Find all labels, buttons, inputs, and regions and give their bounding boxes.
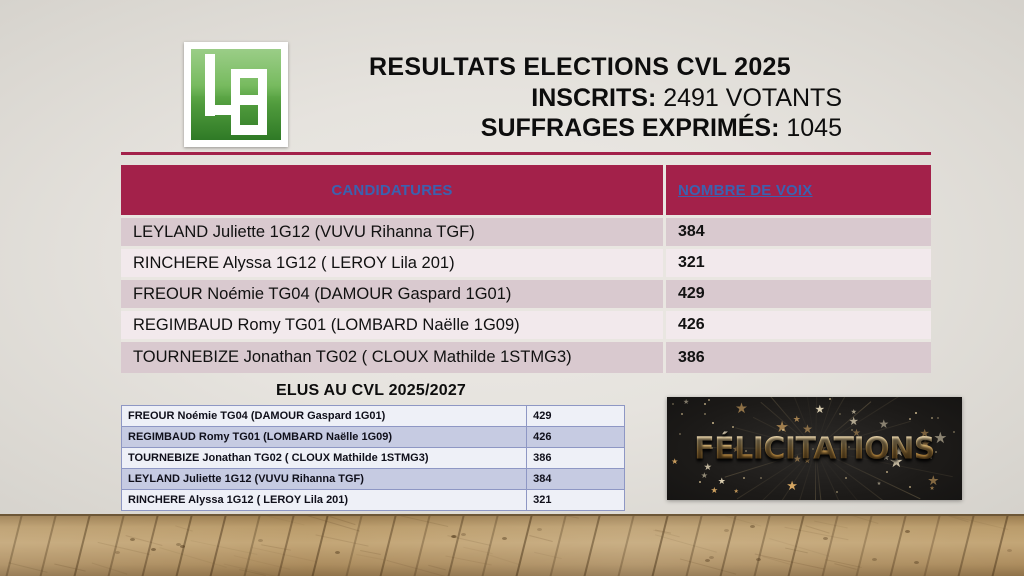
floor-knot xyxy=(756,558,761,561)
floor-grain-line xyxy=(360,550,381,555)
column-header-nombre-de-voix: NOMBRE DE VOIX xyxy=(666,165,931,218)
floor-plank-seam xyxy=(538,514,574,576)
spark-dot xyxy=(681,413,683,415)
elus-table-row: RINCHERE Alyssa 1G12 ( LEROY Lila 201)32… xyxy=(122,490,625,511)
spark-dot xyxy=(836,491,838,493)
floor-grain-line xyxy=(356,554,388,561)
floor-plank-seam xyxy=(640,514,676,576)
floor-knot xyxy=(115,551,120,554)
floor-knot xyxy=(502,537,507,540)
star-icon: ★ xyxy=(734,489,739,495)
elus-cell-voix: 321 xyxy=(527,490,625,511)
floor-plank-seam xyxy=(606,514,642,576)
slide-title-block: RESULTATS ELECTIONS CVL 2025 INSCRITS: 2… xyxy=(300,52,860,144)
table-row: TOURNEBIZE Jonathan TG02 ( CLOUX Mathild… xyxy=(121,342,931,373)
floor-knot xyxy=(914,561,919,564)
spark-dot xyxy=(760,477,762,479)
floor-plank-seam xyxy=(300,514,336,576)
floor-grain-line xyxy=(950,515,1007,530)
slide-canvas: RESULTATS ELECTIONS CVL 2025 INSCRITS: 2… xyxy=(0,0,1024,576)
spark-dot xyxy=(672,403,674,405)
floor-grain-line xyxy=(845,514,878,524)
elus-cell-candidature: LEYLAND Juliette 1G12 (VUVU Rihanna TGF) xyxy=(122,469,527,490)
spark-dot xyxy=(839,413,841,415)
floor-grain-line xyxy=(769,538,830,557)
cell-voix: 426 xyxy=(666,311,931,342)
floor-plank-seam xyxy=(436,514,472,576)
spark-dot xyxy=(915,412,917,414)
floor-grain-line xyxy=(98,542,151,555)
spark-dot xyxy=(931,417,933,419)
star-icon: ★ xyxy=(718,477,726,486)
spark-dot xyxy=(909,486,911,488)
elus-table-body: FREOUR Noémie TG04 (DAMOUR Gaspard 1G01)… xyxy=(122,406,625,511)
elus-heading: ELUS AU CVL 2025/2027 xyxy=(121,382,621,400)
floor-plank-seam xyxy=(878,514,914,576)
floor-knot xyxy=(709,556,714,559)
floor-grain-line xyxy=(529,535,553,542)
table-row: REGIMBAUD Romy TG01 (LOMBARD Naëlle 1G09… xyxy=(121,311,931,342)
floor-knot xyxy=(461,533,466,536)
floor-knot xyxy=(905,530,910,533)
spark-dot xyxy=(699,481,701,483)
elus-table-row: LEYLAND Juliette 1G12 (VUVU Rihanna TGF)… xyxy=(122,469,625,490)
floor-grain-line xyxy=(376,514,448,528)
floor-grain-line xyxy=(175,525,193,531)
elus-table-row: REGIMBAUD Romy TG01 (LOMBARD Naëlle 1G09… xyxy=(122,427,625,448)
table-row: RINCHERE Alyssa 1G12 ( LEROY Lila 201)32… xyxy=(121,249,931,280)
suffrages-value: 1045 xyxy=(786,114,842,142)
floor-knot xyxy=(1007,549,1012,552)
floor-grain-line xyxy=(814,521,847,529)
floor-grain-line xyxy=(315,534,368,546)
floor-plank-seam xyxy=(28,514,64,576)
felicitations-banner: ★★★★★★★★★★★★★★★★★★★★★★★★★★★★★★ FÉLICITAT… xyxy=(667,397,962,500)
star-icon: ★ xyxy=(851,409,857,416)
floor-plank-seam xyxy=(504,514,540,576)
star-icon: ★ xyxy=(793,415,801,424)
spark-dot xyxy=(732,426,734,428)
spark-dot xyxy=(937,417,939,419)
table-row: LEYLAND Juliette 1G12 (VUVU Rihanna TGF)… xyxy=(121,218,931,249)
star-icon: ★ xyxy=(683,400,689,407)
floor-knot xyxy=(823,537,828,540)
floor-knot xyxy=(750,525,755,528)
logo-green-square xyxy=(191,49,281,140)
spark-dot xyxy=(704,403,706,405)
spark-dot xyxy=(704,413,706,415)
results-table-head: CANDIDATURES NOMBRE DE VOIX xyxy=(121,165,931,218)
cell-voix: 384 xyxy=(666,218,931,249)
spark-dot xyxy=(712,422,714,424)
floor-knot xyxy=(724,529,729,532)
cell-candidature: REGIMBAUD Romy TG01 (LOMBARD Naëlle 1G09… xyxy=(121,311,666,342)
floor-grain-line xyxy=(486,553,519,564)
spark-dot xyxy=(845,477,847,479)
elus-cell-voix: 386 xyxy=(527,448,625,469)
title-divider-rule xyxy=(121,152,931,155)
elus-table-row: FREOUR Noémie TG04 (DAMOUR Gaspard 1G01)… xyxy=(122,406,625,427)
inscrits-value: 2491 VOTANTS xyxy=(663,84,842,112)
floor-plank-seam xyxy=(912,514,948,576)
logo-gloss-overlay xyxy=(191,49,281,96)
suffrages-line: SUFFRAGES EXPRIMÉS: 1045 xyxy=(300,113,860,144)
page-title: RESULTATS ELECTIONS CVL 2025 xyxy=(300,52,860,83)
floor-knot xyxy=(130,538,135,541)
elus-cell-voix: 384 xyxy=(527,469,625,490)
floor-grain-line xyxy=(655,534,717,552)
floor-plank-seam xyxy=(742,514,778,576)
wooden-floor-strip xyxy=(0,514,1024,576)
cell-candidature: TOURNEBIZE Jonathan TG02 ( CLOUX Mathild… xyxy=(121,342,666,373)
results-table-body: LEYLAND Juliette 1G12 (VUVU Rihanna TGF)… xyxy=(121,218,931,373)
logo-letter-b-lower-bowl xyxy=(258,95,267,134)
spark-dot xyxy=(886,471,888,473)
elus-cell-candidature: FREOUR Noémie TG04 (DAMOUR Gaspard 1G01) xyxy=(122,406,527,427)
floor-knot xyxy=(335,551,340,554)
cell-candidature: FREOUR Noémie TG04 (DAMOUR Gaspard 1G01) xyxy=(121,280,666,311)
floor-knot xyxy=(451,535,456,538)
floor-knot xyxy=(180,545,185,548)
floor-knot xyxy=(258,539,263,542)
spark-dot xyxy=(743,477,745,479)
star-icon: ★ xyxy=(711,486,719,495)
floor-knot xyxy=(537,528,542,531)
star-icon: ★ xyxy=(701,472,708,480)
felicitations-text: FÉLICITATIONS xyxy=(667,431,962,466)
star-icon: ★ xyxy=(786,480,798,493)
cell-voix: 386 xyxy=(666,342,931,373)
spark-dot xyxy=(708,399,710,401)
elus-cell-candidature: REGIMBAUD Romy TG01 (LOMBARD Naëlle 1G09… xyxy=(122,427,527,448)
floor-knot xyxy=(151,548,156,551)
star-icon: ★ xyxy=(878,418,889,430)
results-table: CANDIDATURES NOMBRE DE VOIX LEYLAND Juli… xyxy=(121,165,931,373)
cell-voix: 429 xyxy=(666,280,931,311)
floor-grain-line xyxy=(55,564,86,572)
suffrages-label: SUFFRAGES EXPRIMÉS: xyxy=(481,114,780,142)
floor-grain-line xyxy=(428,565,445,570)
results-header-row: CANDIDATURES NOMBRE DE VOIX xyxy=(121,165,931,218)
column-header-candidatures: CANDIDATURES xyxy=(121,165,666,218)
elus-cell-voix: 426 xyxy=(527,427,625,448)
elus-cell-candidature: RINCHERE Alyssa 1G12 ( LEROY Lila 201) xyxy=(122,490,527,511)
table-row: FREOUR Noémie TG04 (DAMOUR Gaspard 1G01)… xyxy=(121,280,931,311)
lycee-lb-logo xyxy=(184,42,288,147)
floor-knot xyxy=(872,558,877,561)
spark-dot xyxy=(909,418,911,420)
floor-plank-seam xyxy=(572,514,608,576)
star-icon: ★ xyxy=(848,417,858,429)
elus-cell-candidature: TOURNEBIZE Jonathan TG02 ( CLOUX Mathild… xyxy=(122,448,527,469)
inscrits-label: INSCRITS: xyxy=(531,84,656,112)
inscrits-line: INSCRITS: 2491 VOTANTS xyxy=(300,83,860,114)
floor-knot xyxy=(705,559,710,562)
cell-voix: 321 xyxy=(666,249,931,280)
elus-table: FREOUR Noémie TG04 (DAMOUR Gaspard 1G01)… xyxy=(121,405,625,511)
floor-plank-seam xyxy=(1014,514,1024,576)
cell-candidature: LEYLAND Juliette 1G12 (VUVU Rihanna TGF) xyxy=(121,218,666,249)
elus-table-row: TOURNEBIZE Jonathan TG02 ( CLOUX Mathild… xyxy=(122,448,625,469)
floor-grain-line xyxy=(534,552,562,559)
elus-cell-voix: 429 xyxy=(527,406,625,427)
cell-candidature: RINCHERE Alyssa 1G12 ( LEROY Lila 201) xyxy=(121,249,666,280)
floor-grain-line xyxy=(259,514,305,525)
floor-plank-seam xyxy=(946,514,982,576)
floor-plank-seam xyxy=(368,514,404,576)
star-icon: ★ xyxy=(877,482,882,487)
star-icon: ★ xyxy=(735,402,748,416)
floor-grain-line xyxy=(191,540,258,555)
floor-grain-line xyxy=(722,515,761,527)
star-icon: ★ xyxy=(927,474,939,487)
star-icon: ★ xyxy=(815,404,825,416)
